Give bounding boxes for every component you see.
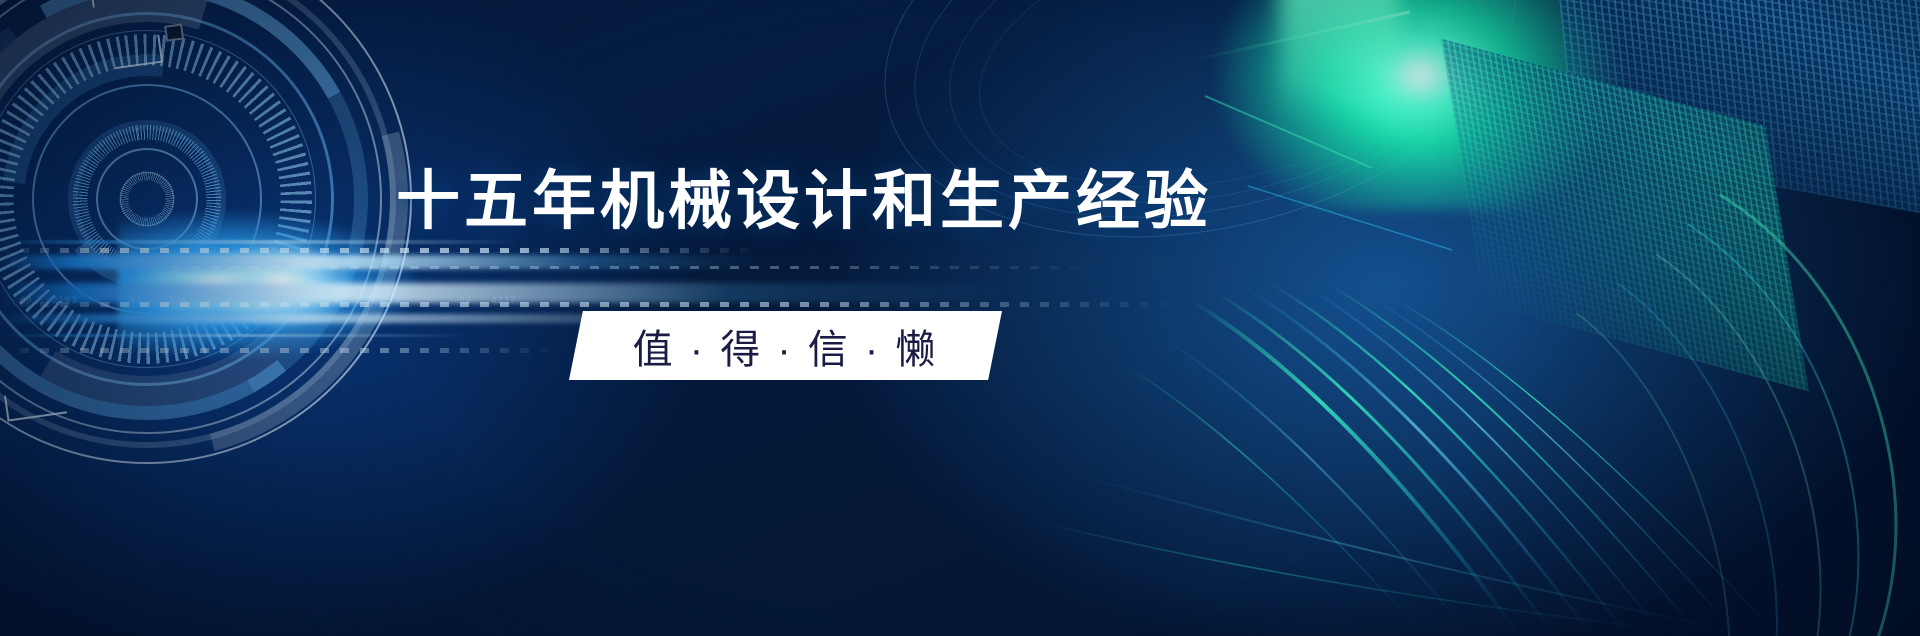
banner-tagline: 值 · 得 · 信 · 懒 [569, 311, 1002, 380]
banner-headline: 十五年机械设计和生产经验 [396, 168, 1196, 235]
tagline-label: 值 · 得 · 信 · 懒 [569, 311, 1002, 380]
hero-banner: 00 . 2103 01 . 3294 02 . 3558 03 . 3996 … [0, 0, 1920, 636]
banner-content: 十五年机械设计和生产经验 值 · 得 · 信 · 懒 [0, 0, 1920, 636]
